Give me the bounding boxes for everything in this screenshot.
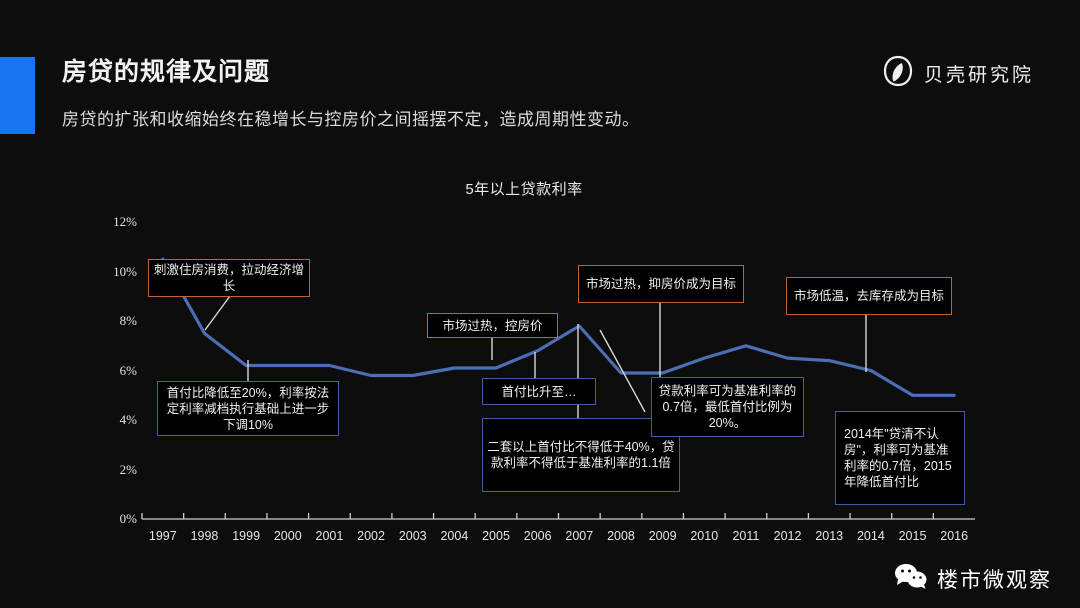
annotation-downpayment-rise: 首付比升至… [482, 378, 596, 405]
x-axis-tick: 2009 [649, 529, 677, 543]
x-axis-tick: 2008 [607, 529, 635, 543]
x-axis-tick: 2006 [524, 529, 552, 543]
x-axis-tick: 2016 [940, 529, 968, 543]
annotation-downpayment-20: 首付比降低至20%，利率按法定利率减档执行基础上进一步下调10% [157, 381, 339, 436]
x-axis-tick: 2013 [815, 529, 843, 543]
x-axis-tick: 2003 [399, 529, 427, 543]
annotation-2014-policy: 2014年"贷清不认房"，利率可为基准利率的0.7倍，2015年降低首付比 [835, 411, 965, 505]
watermark: 楼市微观察 [894, 563, 1052, 594]
x-axis-tick: 2007 [565, 529, 593, 543]
chart-line-loan-rate: 5年以上贷款利率 0%2%4%6%8%10%12% 19971998199920… [0, 0, 1080, 608]
x-axis-tick: 2012 [774, 529, 802, 543]
x-axis-tick: 2011 [732, 529, 759, 543]
x-axis-tick: 1998 [191, 529, 219, 543]
annotation-overheat-suppress-price: 市场过热，抑房价成为目标 [578, 265, 744, 303]
y-axis-tick: 2% [120, 462, 137, 478]
x-axis-tick: 2001 [316, 529, 344, 543]
x-axis-tick: 2002 [357, 529, 385, 543]
annotation-overheat-control-price: 市场过热，控房价 [427, 313, 558, 338]
y-axis-tick: 6% [120, 363, 137, 379]
x-axis-tick: 2015 [899, 529, 927, 543]
watermark-text: 楼市微观察 [937, 564, 1052, 594]
y-axis-tick: 8% [120, 313, 137, 329]
y-axis-tick: 4% [120, 412, 137, 428]
y-axis-tick: 0% [120, 511, 137, 527]
x-axis-tick: 2005 [482, 529, 510, 543]
chart-title: 5年以上贷款利率 [0, 178, 1080, 199]
slide-root: 房贷的规律及问题 房贷的扩张和收缩始终在稳增长与控房价之间摇摆不定，造成周期性变… [0, 0, 1080, 608]
y-axis-labels: 0%2%4%6%8%10%12% [95, 0, 137, 608]
annotation-rate-07-times: 贷款利率可为基准利率的0.7倍，最低首付比例为20%。 [651, 377, 804, 437]
x-axis-tick: 1997 [149, 529, 177, 543]
annotation-stimulate-housing: 刺激住房消费，拉动经济增长 [148, 259, 310, 297]
x-axis-tick: 2014 [857, 529, 885, 543]
annotation-low-temp-destock: 市场低温，去库存成为目标 [786, 277, 952, 315]
y-axis-tick: 10% [113, 264, 137, 280]
x-axis-tick: 2000 [274, 529, 302, 543]
x-axis-tick: 2004 [440, 529, 468, 543]
x-axis-tick: 2010 [690, 529, 718, 543]
wechat-icon [894, 563, 928, 594]
y-axis-tick: 12% [113, 214, 137, 230]
x-axis-tick: 1999 [232, 529, 260, 543]
